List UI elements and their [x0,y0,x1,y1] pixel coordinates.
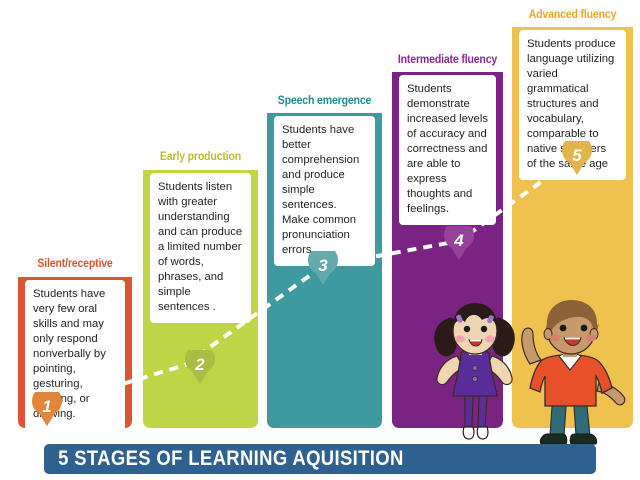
stage-card-2: Students listen with greater understandi… [150,173,251,323]
boy-character-icon [522,300,625,444]
stage-number-2: 2 [185,350,215,380]
stage-pin-2: 2 [185,350,215,384]
girl-character-icon [435,303,514,439]
children-illustration [424,296,640,456]
stage-label-3: Speech emergence [272,95,378,107]
infographic-canvas: Silent/receptive Early production Speech… [0,0,640,480]
page-title: 5 STAGES OF LEARNING AQUISITION [44,447,404,471]
stage-label-2: Early production [148,151,254,163]
footer-title-band: 5 STAGES OF LEARNING AQUISITION [44,444,596,474]
stage-card-3: Students have better comprehension and p… [274,116,375,266]
stage-pin-3: 3 [308,251,338,285]
stage-number-5: 5 [562,141,592,171]
stage-label-4: Intermediate fluency [396,54,498,66]
stage-number-3: 3 [308,251,338,281]
stage-number-4: 4 [444,226,474,256]
stage-label-5: Advanced fluency [517,9,628,21]
stage-label-1: Silent/receptive [23,258,128,270]
stage-number-1: 1 [32,392,62,422]
stage-pin-1: 1 [32,392,62,426]
stage-pin-5: 5 [562,141,592,175]
stage-card-4: Students demonstrate increased levels of… [399,75,496,225]
stage-pin-4: 4 [444,226,474,260]
